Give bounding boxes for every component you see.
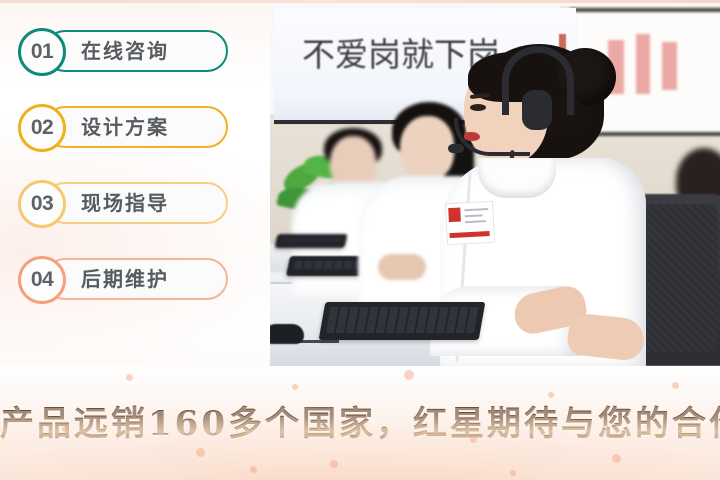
decor-dot xyxy=(292,384,298,390)
shirt-collar xyxy=(478,158,556,198)
keyboard-back xyxy=(275,234,348,248)
decor-dot xyxy=(612,454,621,463)
bottom-banner: 产品远销160多个国家，红星期待与您的合作 xyxy=(0,366,720,480)
headset-microphone-icon xyxy=(448,144,464,153)
promo-poster: 在线咨询 01 设计方案 02 现场指导 03 后期维护 04 xyxy=(0,0,720,480)
decor-dot xyxy=(672,382,679,389)
decor-dot xyxy=(250,466,257,473)
step-number-badge-02: 02 xyxy=(18,104,66,152)
step-item-02[interactable]: 设计方案 02 xyxy=(18,104,228,150)
keyboard-foreground xyxy=(319,302,486,340)
step-number-badge-03: 03 xyxy=(18,180,66,228)
decor-dot xyxy=(404,370,414,380)
step-number-badge-04: 04 xyxy=(18,256,66,304)
headset-boom-arm xyxy=(454,118,530,156)
step-item-01[interactable]: 在线咨询 01 xyxy=(18,28,228,74)
name-badge xyxy=(445,201,495,245)
decor-dot xyxy=(510,470,516,476)
decor-dot xyxy=(196,448,205,457)
step-item-04[interactable]: 后期维护 04 xyxy=(18,256,228,302)
service-steps-list: 在线咨询 01 设计方案 02 现场指导 03 后期维护 04 xyxy=(0,22,266,342)
call-center-photo: 不爱岗就下岗 xyxy=(270,6,720,366)
step-number-badge-01: 01 xyxy=(18,28,66,76)
decor-dot xyxy=(330,460,338,468)
top-accent-line xyxy=(0,0,720,3)
step-item-03[interactable]: 现场指导 03 xyxy=(18,180,228,226)
banner-slogan: 产品远销160多个国家，红星期待与您的合作 xyxy=(0,396,720,445)
decor-dot xyxy=(126,374,133,381)
eye xyxy=(470,104,486,111)
mouse-device xyxy=(270,324,304,344)
